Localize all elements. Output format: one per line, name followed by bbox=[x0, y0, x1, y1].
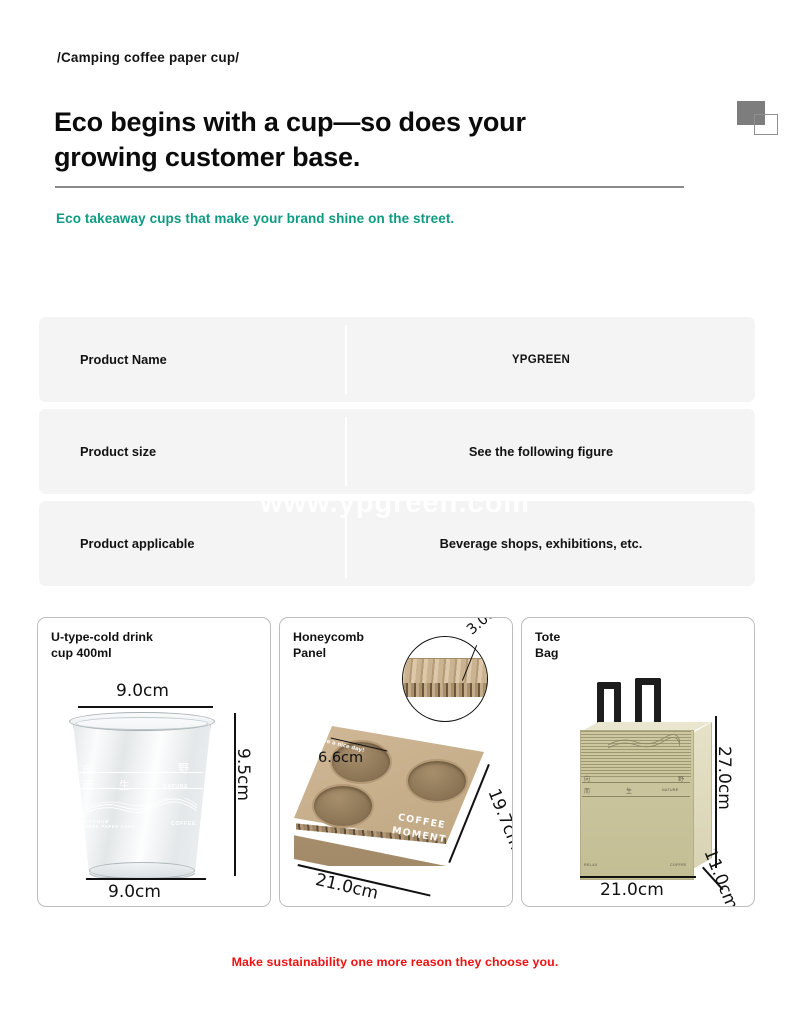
tote-latin-coffee: COFFEE bbox=[670, 863, 686, 867]
cup-rim-inner bbox=[76, 717, 208, 730]
cup-hole-2 bbox=[406, 759, 468, 803]
tote-cn-3: 而 bbox=[584, 786, 590, 795]
honeycomb-illustration: 3.0cm Have a nice day! COFFEE MOMENT 6.6… bbox=[288, 688, 506, 900]
tote-wave-graphic bbox=[608, 734, 680, 750]
cup-hole-3 bbox=[312, 784, 374, 828]
subheading: Eco takeaway cups that make your brand s… bbox=[56, 209, 476, 229]
tote-rule-1 bbox=[582, 782, 690, 783]
card-title: Tote Bag bbox=[535, 630, 560, 662]
product-card-honeycomb: Honeycomb Panel 3.0cm Have a nice day! bbox=[279, 617, 513, 907]
dimension-height: 27.0cm bbox=[714, 746, 734, 810]
spec-label: Product Name bbox=[39, 352, 345, 367]
cup-cn-1: 向 bbox=[83, 761, 94, 777]
dimension-hole: 6.6cm bbox=[318, 750, 363, 766]
tote-latin-relax: RELAX bbox=[584, 863, 598, 867]
spec-label: Product applicable bbox=[39, 536, 345, 551]
dimension-top-width: 9.0cm bbox=[116, 681, 169, 701]
dimension-line-top bbox=[78, 706, 213, 708]
spec-label: Product size bbox=[39, 444, 345, 459]
cup-print-artwork: 向 野 而 生 NATURE PLATINUM OFFEE PAPER CUPS… bbox=[79, 758, 203, 828]
cup-cn-2: 野 bbox=[178, 760, 189, 776]
cup-cn-3: 而 bbox=[83, 777, 94, 793]
spec-value: Beverage shops, exhibitions, etc. bbox=[345, 536, 755, 551]
dimension-bottom-width: 9.0cm bbox=[108, 882, 161, 902]
tote-latin-nature: NATURE bbox=[662, 788, 679, 792]
cup-illustration: 向 野 而 生 NATURE PLATINUM OFFEE PAPER CUPS… bbox=[65, 710, 217, 880]
tote-illustration: 向 野 而 生 NATURE RELAX COFFEE bbox=[570, 678, 720, 893]
cup-latin-coffee: COFFEE bbox=[171, 821, 196, 827]
cup-base bbox=[89, 862, 195, 879]
honeycomb-corrugation-top bbox=[402, 658, 488, 685]
card-title: Honeycomb Panel bbox=[293, 630, 364, 662]
cup-wave-graphic bbox=[85, 798, 197, 815]
footer-tagline: Make sustainability one more reason they… bbox=[0, 955, 790, 969]
product-card-cup: U-type-cold drink cup 400ml 9.0cm 向 野 而 … bbox=[37, 617, 271, 907]
dimension-width: 21.0cm bbox=[600, 880, 664, 900]
card-title: U-type-cold drink cup 400ml bbox=[51, 630, 153, 662]
table-row: Product size See the following figure bbox=[39, 409, 755, 494]
dimension-line-width bbox=[580, 876, 696, 878]
row-divider bbox=[345, 509, 347, 578]
table-row: Product Name YPGREEN bbox=[39, 317, 755, 402]
product-detail-page: /Camping coffee paper cup/ Eco begins wi… bbox=[0, 0, 790, 1012]
spec-value: See the following figure bbox=[345, 444, 755, 459]
tote-handle-right-top bbox=[635, 678, 661, 685]
dimension-thickness: 3.0cm bbox=[464, 617, 509, 638]
page-title: Eco begins with a cup—so does your growi… bbox=[54, 105, 614, 174]
cup-latin-nature: NATURE bbox=[163, 784, 188, 790]
table-row: Product applicable Beverage shops, exhib… bbox=[39, 501, 755, 586]
kicker-label: /Camping coffee paper cup/ bbox=[57, 50, 239, 65]
row-divider bbox=[345, 417, 347, 486]
decorative-squares bbox=[737, 101, 787, 141]
tote-cn-1: 向 bbox=[584, 774, 590, 783]
tote-handle-right-inner bbox=[654, 678, 661, 726]
cup-latin-sub: OFFEE PAPER CUPS bbox=[82, 824, 135, 829]
row-divider bbox=[345, 325, 347, 394]
tote-cn-4: 生 bbox=[626, 786, 632, 795]
dimension-line-bottom bbox=[86, 878, 206, 880]
title-divider bbox=[55, 186, 684, 188]
spec-value: YPGREEN bbox=[345, 354, 755, 366]
product-card-tote: Tote Bag 向 野 而 bbox=[521, 617, 755, 907]
product-card-list: U-type-cold drink cup 400ml 9.0cm 向 野 而 … bbox=[37, 617, 755, 907]
tote-handle-right-outer bbox=[635, 678, 642, 728]
tote-side-panel bbox=[691, 722, 712, 870]
cup-cn-4: 生 bbox=[119, 777, 130, 793]
dimension-height: 9.5cm bbox=[233, 748, 253, 801]
tote-handle-left-top bbox=[597, 682, 621, 689]
outline-square-icon bbox=[754, 114, 778, 135]
spec-table: Product Name YPGREEN Product size See th… bbox=[39, 317, 755, 593]
honeycomb-corrugation-bottom bbox=[402, 683, 488, 697]
tote-rule-2 bbox=[582, 796, 690, 797]
tote-cn-2: 野 bbox=[678, 774, 684, 783]
